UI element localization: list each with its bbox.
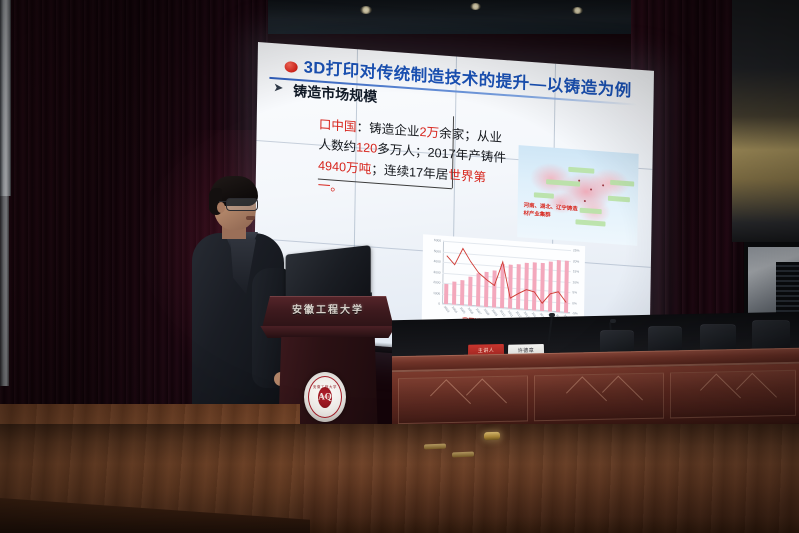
chart-x-tick-label: 2009	[491, 309, 498, 317]
chart-y-tick-label: 0	[438, 301, 440, 305]
chart-x-tick-label: 2003	[443, 305, 450, 313]
map-city-dot	[590, 188, 592, 190]
chart-line-series	[442, 241, 571, 313]
wall-edge-trim	[0, 0, 11, 196]
chart-x-tick-label: 2006	[467, 307, 474, 315]
university-crest-icon: 安徽工程大学 AQ 1935	[304, 372, 346, 422]
chart-y-tick-label: 1000	[433, 291, 440, 296]
body-line3-post: ；连续17年居	[371, 162, 448, 182]
university-name-plate: 安徽工程大学	[276, 301, 380, 316]
body-line2-number: 120	[356, 141, 377, 157]
microphone-head	[549, 313, 555, 317]
body-line1-number: 2万	[419, 125, 439, 140]
lectern-lip	[256, 326, 400, 338]
square-bullet: 口	[319, 118, 332, 133]
chart-y-tick-label-right: 20%	[573, 259, 579, 263]
chart-y-tick-label: 3000	[433, 270, 440, 275]
lectern-top: 安徽工程大学	[262, 296, 394, 328]
table-chevron-ornament	[602, 376, 643, 417]
lecture-hall-photo: 3D打印对传统制造技术的提升—以铸造为例 ➤ 铸造市场规模 口中国：铸造企业2万…	[0, 0, 799, 533]
crest-core: AQ 1935	[318, 387, 332, 408]
chart-x-tick-label: 2005	[459, 306, 466, 314]
wall-panel-right	[732, 0, 799, 242]
table-chevron-ornament	[736, 373, 777, 414]
chart-y-tick-label: 4000	[434, 259, 441, 264]
table-chevron-ornament	[466, 378, 507, 419]
table-panel	[670, 370, 796, 419]
body-line3-pre: 件	[493, 151, 506, 166]
glasses-icon	[226, 198, 258, 211]
crest-year: 1935	[318, 395, 332, 399]
stage-uplight-small	[452, 452, 474, 458]
chart-y-tick-label-right: 5%	[572, 290, 577, 294]
map-city-dot	[578, 180, 580, 182]
chart-y-tick-label: 2000	[433, 280, 440, 285]
body-label: 中国	[331, 118, 356, 134]
wall-edge-trim-lower	[0, 196, 9, 386]
table-chevron-ornament	[430, 379, 471, 420]
table-chevron-ornament	[700, 373, 741, 414]
chart-y-tick-label: 6000	[434, 238, 441, 243]
body-line2-post: 多万人；2017年产铸	[377, 142, 493, 164]
stage-table-front-panel	[392, 364, 799, 433]
arrow-bullet-icon: ➤	[273, 83, 287, 93]
table-panel	[534, 373, 664, 422]
presenter-mouth	[246, 216, 255, 220]
crest-ring: 安徽工程大学 AQ 1935	[308, 376, 342, 418]
map-city-dot	[602, 184, 604, 186]
chart-y-tick-label-right: 25%	[573, 248, 579, 252]
body-line1-pre: ：铸造企业	[356, 120, 419, 139]
chart-plot-area: 600050004000300020001000025%20%15%10%5%0…	[442, 241, 571, 313]
table-panel	[398, 375, 528, 424]
china-map-image: 河南、湖北、辽宁铸造材产业集群	[517, 145, 638, 246]
chart-y-tick-label-right: 15%	[573, 269, 579, 273]
booth-frame-top	[744, 242, 799, 247]
chart-y-tick-label: 5000	[434, 249, 441, 254]
stage-floor-shadow	[0, 424, 799, 464]
stage-uplight-small	[424, 444, 446, 450]
chart-x-tick-label: 2010	[499, 309, 506, 317]
chart-x-tick-label: 2011	[507, 310, 514, 318]
body-line2-pre: 人数约	[318, 138, 356, 155]
red-circle-bullet-icon	[285, 61, 298, 73]
chart-y-tick-label-right: -5%	[572, 311, 578, 315]
body-line3-number: 4940万吨	[318, 158, 371, 176]
ceiling-light	[572, 7, 583, 14]
slide-body-text: 口中国：铸造企业2万余家；从业人数约120多万人；2017年产铸件4940万吨；…	[318, 115, 511, 211]
ceiling-light	[360, 6, 372, 14]
presenter-ear	[217, 202, 225, 213]
body-line1-post: 余家；从业	[439, 126, 502, 145]
ceiling-light	[470, 3, 481, 10]
chart-y-tick-label-right: 0%	[572, 301, 577, 305]
stage-uplight	[484, 432, 500, 441]
chart-x-tick-label: 2007	[475, 307, 482, 315]
table-chevron-ornament	[566, 376, 607, 417]
chart-x-tick-label: 2008	[483, 308, 490, 316]
microphone-head	[610, 319, 616, 323]
chart-y-tick-label-right: 10%	[573, 280, 579, 284]
map-city-dot	[584, 200, 586, 202]
chart-x-tick-label: 2004	[451, 306, 458, 314]
